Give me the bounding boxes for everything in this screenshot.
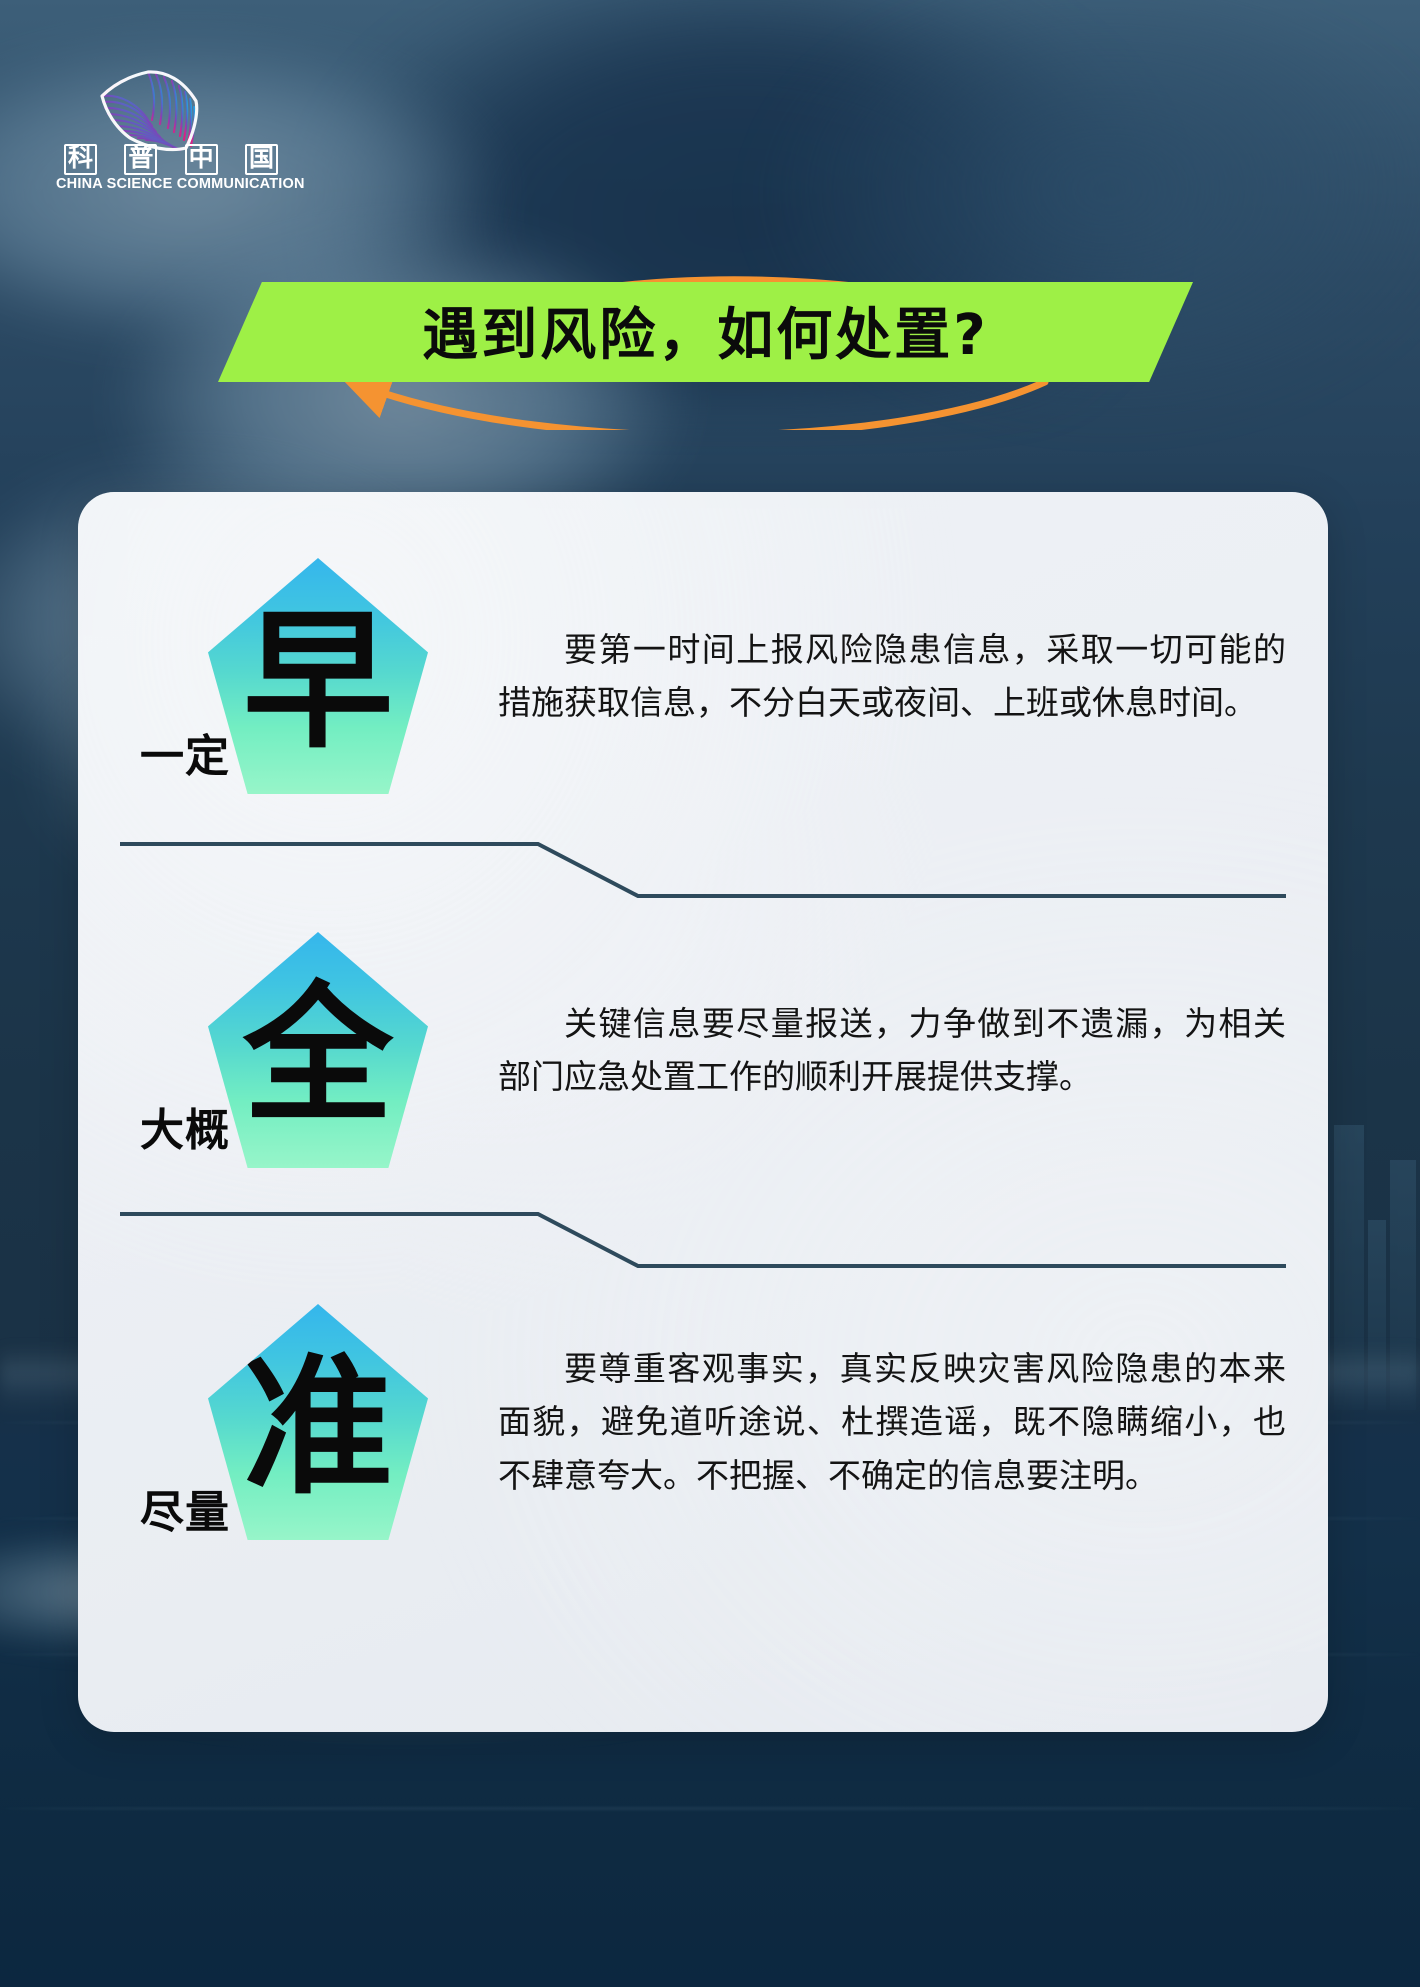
logo-english-text: CHINA SCIENCE COMMUNICATION (56, 176, 286, 192)
section-row: 一定 早 要第一时间上报风险隐患信息，采取一切可能的措施获取信息，不分白天或夜间… (78, 516, 1328, 836)
logo-chinese-text: 科 普 中 国 (56, 144, 286, 175)
section-qualifier: 大概 (140, 1094, 230, 1158)
logo: 科 普 中 国 CHINA SCIENCE COMMUNICATION (56, 58, 286, 178)
logo-char-4: 国 (245, 144, 278, 175)
pentagon-badge: 准 (208, 1304, 428, 1540)
section-body: 关键信息要尽量报送，力争做到不遗漏，为相关部门应急处置工作的顺利开展提供支撑。 (498, 997, 1328, 1104)
section-row: 尽量 准 要尊重客观事实，真实反映灾害风险隐患的本来面貌，避免道听途说、杜撰造谣… (78, 1252, 1328, 1592)
feather-wing-mark-icon (86, 58, 206, 153)
pentagon-keyword: 全 (243, 981, 393, 1131)
title-banner-area: 遇到风险，如何处置? (0, 270, 1420, 400)
section-qualifier: 一定 (140, 720, 230, 784)
pentagon-keyword: 早 (243, 607, 393, 757)
pentagon-keyword: 准 (243, 1353, 393, 1503)
logo-char-3: 中 (185, 144, 218, 175)
section-badge-zone: 一定 早 (78, 516, 498, 836)
section-badge-zone: 尽量 准 (78, 1252, 498, 1592)
poster-root: 科 普 中 国 CHINA SCIENCE COMMUNICATION 遇到风险… (0, 0, 1420, 1987)
section-body: 要第一时间上报风险隐患信息，采取一切可能的措施获取信息，不分白天或夜间、上班或休… (498, 623, 1328, 730)
section-body: 要尊重客观事实，真实反映灾害风险隐患的本来面貌，避免道听途说、杜撰造谣，既不隐瞒… (498, 1342, 1328, 1502)
section-badge-zone: 大概 全 (78, 890, 498, 1210)
logo-char-1: 科 (64, 144, 97, 175)
pentagon-badge: 全 (208, 932, 428, 1168)
page-title: 遇到风险，如何处置? (422, 290, 988, 371)
section-qualifier: 尽量 (140, 1476, 230, 1540)
pentagon-badge: 早 (208, 558, 428, 794)
content-card: 一定 早 要第一时间上报风险隐患信息，采取一切可能的措施获取信息，不分白天或夜间… (78, 492, 1328, 1732)
logo-char-2: 普 (124, 144, 157, 175)
title-banner: 遇到风险，如何处置? (218, 282, 1193, 382)
section-row: 大概 全 关键信息要尽量报送，力争做到不遗漏，为相关部门应急处置工作的顺利开展提… (78, 890, 1328, 1210)
